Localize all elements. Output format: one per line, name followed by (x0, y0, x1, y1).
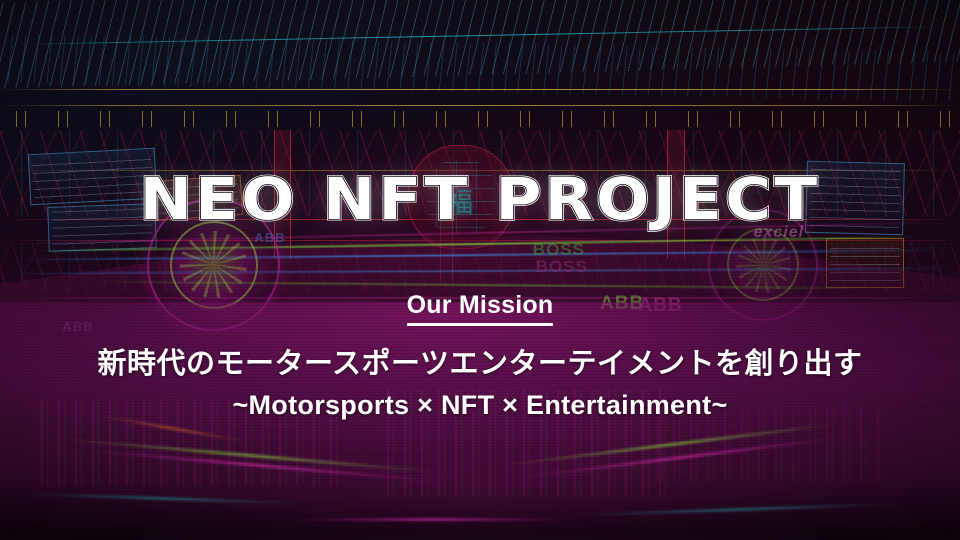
hero-slide: 福 BOSS BOSS exciel ABB ABB ABB ABB (0, 0, 960, 540)
slide-content: NEO NFT PROJECT NEO NFT PROJECT NEO NFT … (0, 0, 960, 540)
mission-heading: Our Mission (0, 291, 960, 320)
hero-title-inner-fill: NEO NFT PROJECT (0, 168, 960, 230)
hero-title: NEO NFT PROJECT NEO NFT PROJECT NEO NFT … (0, 168, 960, 232)
mission-heading-text: Our Mission (407, 291, 554, 326)
mission-tagline-english: ~Motorsports × NFT × Entertainment~ (0, 390, 960, 421)
mission-statement-japanese: 新時代のモータースポーツエンターテイメントを創り出す (0, 340, 960, 382)
